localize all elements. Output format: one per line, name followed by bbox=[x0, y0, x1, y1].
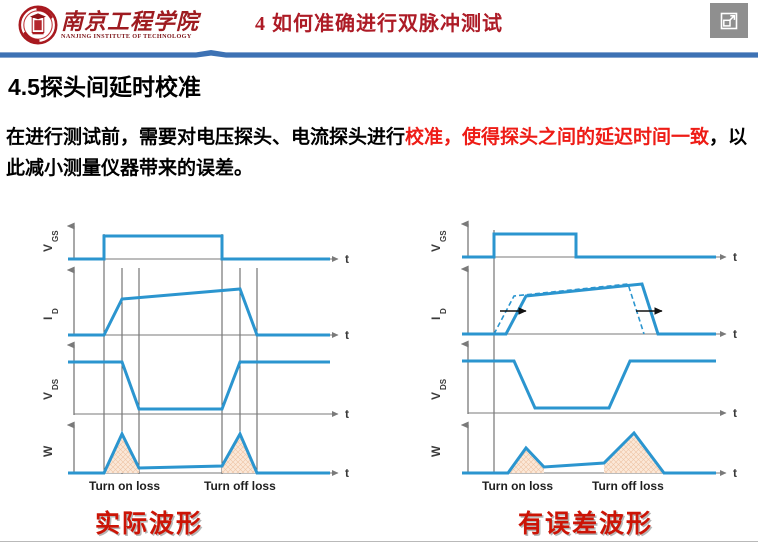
slide-title: 4 如何准确进行双脉冲测试 bbox=[255, 7, 503, 36]
panel-sublabel-ds: DS bbox=[439, 378, 448, 390]
panel-sublabel-ds: DS bbox=[51, 378, 60, 390]
axis-label-t: t bbox=[733, 406, 737, 420]
turn-on-loss-label: Turn on loss bbox=[89, 479, 160, 493]
panel-label-vgs: V bbox=[429, 244, 443, 252]
header-accent-bar bbox=[0, 45, 758, 53]
caption-actual-waveform: 实际波形 bbox=[95, 504, 203, 540]
panel-vds: V DS t bbox=[429, 344, 737, 420]
panel-vgs: V GS t bbox=[41, 226, 349, 266]
turn-off-loss-label: Turn off loss bbox=[204, 479, 276, 493]
paragraph-highlight: 校准，使得探头之间的延迟时间一致 bbox=[405, 127, 709, 148]
axis-label-t: t bbox=[733, 327, 737, 341]
caption-error-waveform: 有误差波形 bbox=[518, 504, 653, 540]
logo-english-name: NANJING INSTITUTE OF TECHNOLOGY bbox=[61, 34, 199, 41]
axis-label-t: t bbox=[345, 466, 349, 480]
turn-on-loss-area bbox=[104, 434, 139, 473]
id-measured-solid bbox=[462, 284, 716, 334]
panel-sublabel-d: D bbox=[51, 308, 60, 314]
panel-sublabel-gs: GS bbox=[439, 230, 448, 242]
panel-label-vgs: V bbox=[41, 244, 55, 252]
panel-id: I D t bbox=[429, 269, 737, 341]
panel-sublabel-gs: GS bbox=[51, 230, 60, 242]
panel-w: W t bbox=[41, 425, 349, 480]
logo-chinese-name: 南京工程学院 bbox=[61, 10, 199, 33]
turn-off-loss-label: Turn off loss bbox=[592, 479, 664, 493]
panel-sublabel-d: D bbox=[439, 308, 448, 314]
axis-label-t: t bbox=[345, 407, 349, 421]
panel-label-vds: V bbox=[41, 392, 55, 400]
actual-waveform-diagram: V GS t I D t V DS t W bbox=[8, 212, 376, 498]
panel-label-vds: V bbox=[429, 392, 443, 400]
expand-icon bbox=[719, 11, 739, 31]
turn-off-loss-area bbox=[222, 434, 257, 473]
body-paragraph: 在进行测试前，需要对电压探头、电流探头进行校准，使得探头之间的延迟时间一致，以此… bbox=[6, 122, 758, 184]
axis-label-t: t bbox=[733, 250, 737, 264]
university-logo: 南京工程学院 NANJING INSTITUTE OF TECHNOLOGY bbox=[18, 3, 218, 47]
axis-label-t: t bbox=[733, 466, 737, 480]
panel-vgs: V GS t bbox=[429, 224, 737, 264]
panel-label-id: I bbox=[41, 317, 55, 320]
axis-label-t: t bbox=[345, 328, 349, 342]
section-heading: 4.5探头间延时校准 bbox=[8, 68, 201, 102]
university-seal-icon bbox=[18, 5, 58, 45]
expand-button[interactable] bbox=[710, 3, 748, 38]
panel-vds: V DS t bbox=[41, 345, 349, 421]
panel-id: I D t bbox=[41, 270, 349, 342]
panel-label-w: W bbox=[429, 445, 443, 457]
timing-marker-lines bbox=[104, 234, 257, 474]
panel-label-id: I bbox=[429, 317, 443, 320]
paragraph-part1: 在进行测试前，需要对电压探头、电流探头进行 bbox=[6, 127, 405, 148]
panel-label-w: W bbox=[41, 445, 55, 457]
turn-on-loss-label: Turn on loss bbox=[482, 479, 553, 493]
axis-label-t: t bbox=[345, 252, 349, 266]
bottom-divider bbox=[0, 541, 758, 542]
error-waveform-diagram: V GS t I D t V DS t bbox=[396, 212, 758, 498]
panel-w: W t bbox=[429, 425, 737, 480]
slide-header: 南京工程学院 NANJING INSTITUTE OF TECHNOLOGY 4… bbox=[0, 0, 758, 52]
